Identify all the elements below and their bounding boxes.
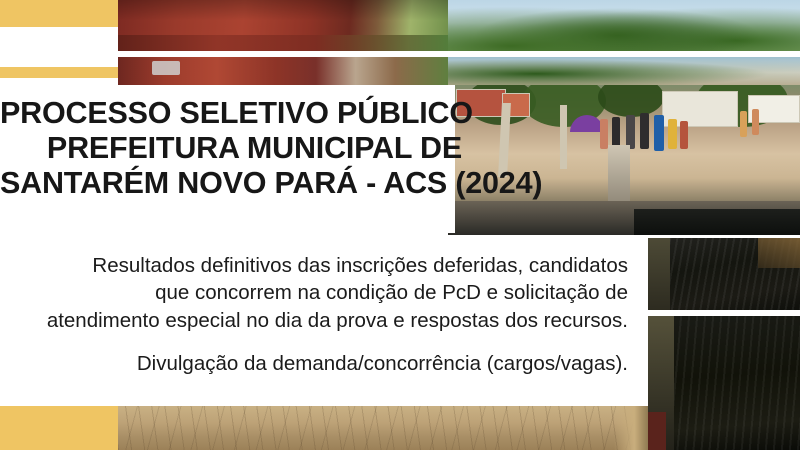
- person-shape: [626, 115, 635, 149]
- photo-dark-water-lower: [648, 316, 800, 450]
- body-p1-line-3: atendimento especial no dia da prova e r…: [0, 307, 628, 334]
- person-shape: [600, 119, 608, 149]
- tree-trunk-shape: [560, 105, 567, 169]
- concrete-pillar-shape: [608, 145, 630, 207]
- gold-block-bottom: [0, 406, 118, 450]
- poster-canvas: PROCESSO SELETIVO PÚBLICO PREFEITURA MUN…: [0, 0, 800, 450]
- body-paragraph-1: Resultados definitivos das inscrições de…: [0, 252, 628, 334]
- body-text: Resultados definitivos das inscrições de…: [0, 252, 628, 377]
- photo-street-trees-middle: [448, 57, 800, 85]
- title-line-2: PREFEITURA MUNICIPAL DE: [0, 131, 462, 166]
- body-p1-line-2: que concorrem na condição de PcD e solic…: [0, 279, 628, 306]
- photo-riverside-people: [448, 85, 800, 235]
- photo-sand-riverbank: [118, 406, 648, 450]
- photo-street-trees-top: [448, 0, 800, 51]
- person-shape: [654, 115, 664, 151]
- page-title: PROCESSO SELETIVO PÚBLICO PREFEITURA MUN…: [0, 96, 462, 202]
- gold-bar-top: [0, 0, 118, 27]
- person-shape: [740, 111, 747, 137]
- body-paragraph-2: Divulgação da demanda/concorrência (carg…: [0, 350, 628, 377]
- title-line-1: PROCESSO SELETIVO PÚBLICO: [0, 96, 462, 131]
- tree-shape: [598, 85, 664, 117]
- photo-prefeitura-building-bottom: [118, 57, 448, 85]
- body-p1-line-1: Resultados definitivos das inscrições de…: [0, 252, 628, 279]
- person-shape: [680, 121, 688, 149]
- water-shape: [634, 209, 800, 235]
- gold-bar-thin: [0, 67, 118, 78]
- photo-prefeitura-building-top: [118, 0, 448, 51]
- person-shape: [752, 109, 759, 135]
- person-shape: [640, 113, 649, 149]
- photo-dark-water-upper: [648, 238, 800, 310]
- title-line-3: SANTARÉM NOVO PARÁ - ACS (2024): [0, 166, 462, 201]
- person-shape: [668, 119, 677, 149]
- body-p2-line-1: Divulgação da demanda/concorrência (carg…: [0, 350, 628, 377]
